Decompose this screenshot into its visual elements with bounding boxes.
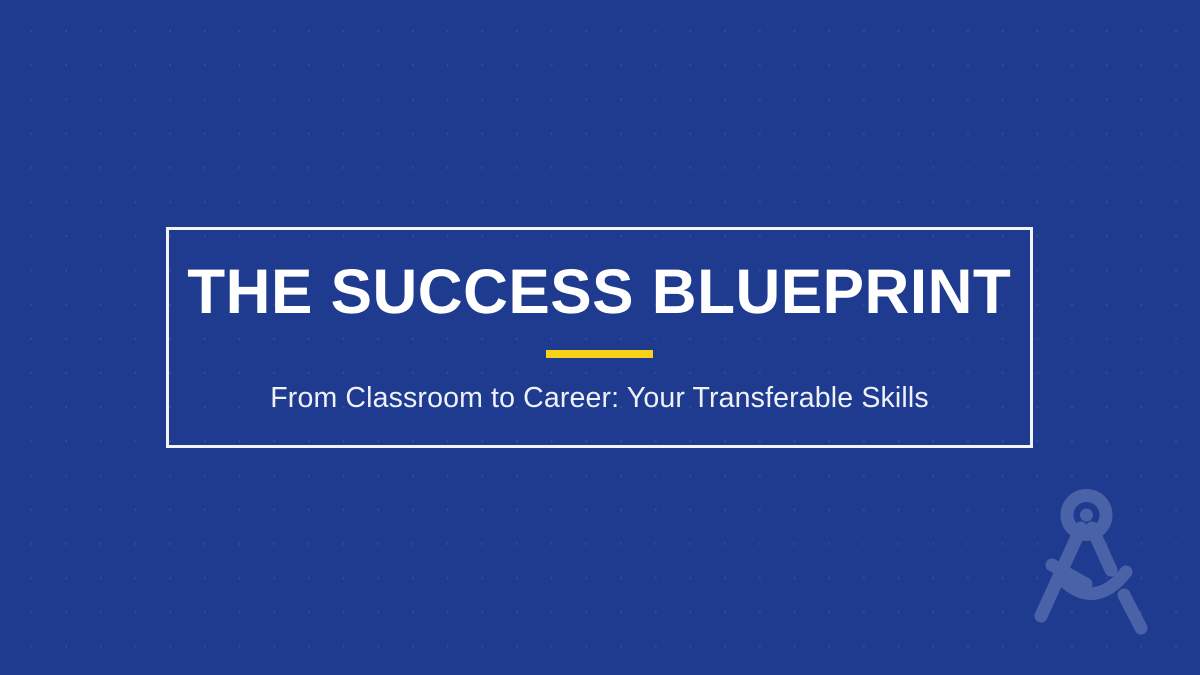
compass-icon [1012,488,1162,638]
title-frame: THE SUCCESS BLUEPRINT From Classroom to … [166,227,1033,448]
title-slide: THE SUCCESS BLUEPRINT From Classroom to … [0,0,1200,675]
page-subtitle: From Classroom to Career: Your Transfera… [270,382,929,415]
accent-divider [546,350,653,358]
page-title: THE SUCCESS BLUEPRINT [187,260,1011,324]
